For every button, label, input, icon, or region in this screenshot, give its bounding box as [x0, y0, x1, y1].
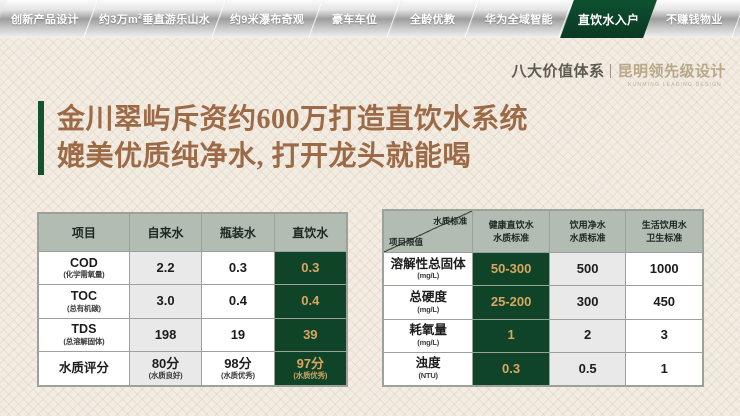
left-row-2-item-value: TDS: [71, 322, 96, 336]
left-row-2-tap-value: 198: [155, 327, 177, 342]
brand-sub-title: 昆明领先级设计: [617, 65, 726, 80]
col-header-item: 项目: [39, 214, 130, 252]
right-row-3-domestic: 1: [626, 352, 703, 385]
col-header-healthy-direct: 健康直饮水 水质标准: [473, 211, 550, 253]
left-row-3-tap-value: 80分: [152, 356, 179, 371]
table-row: 总硬度(mg/L)25-200300450: [384, 286, 703, 319]
brand-english-subtitle: KUNMING LEADING DESIGN: [511, 83, 726, 88]
table-left-head: 项目 自来水 瓶装水 直饮水: [39, 214, 347, 252]
left-row-2-direct-value: 39: [303, 327, 317, 342]
left-row-1-direct-value: 0.4: [301, 293, 319, 308]
left-row-0-tap: 2.2: [129, 252, 201, 285]
corner-label-standard: 水质标准: [433, 215, 467, 227]
right-row-1-healthy-value: 25-200: [491, 294, 531, 309]
nav-tab-2[interactable]: 约9米瀑布奇观: [213, 0, 323, 38]
col-header-tap: 自来水: [129, 214, 201, 252]
table-right-head: 水质标准 项目限值 健康直饮水 水质标准 饮用净水 水质标准 生活饮用水 卫生标…: [384, 211, 703, 253]
left-row-0-direct: 0.3: [274, 252, 346, 285]
left-row-0-item: COD(化学需氧量): [39, 252, 130, 285]
col-header-healthy-direct-l1: 健康直饮水: [489, 220, 534, 230]
nav-tab-5[interactable]: 华为全域智能: [466, 0, 573, 38]
left-row-1-tap: 3.0: [129, 285, 201, 318]
left-row-0-bottled-value: 0.3: [229, 260, 247, 275]
left-row-3-direct-value: 97分: [297, 356, 324, 371]
left-row-1-item-value: TOC: [71, 289, 97, 303]
left-row-1-item: TOC(总有机碳): [39, 285, 130, 318]
table-row: 水质评分80分(水质良好)98分(水质优秀)97分(水质优秀): [39, 351, 347, 385]
right-row-3-purified-value: 0.5: [579, 361, 597, 376]
left-row-0-bottled: 0.3: [202, 252, 274, 285]
right-row-0-item-value: 溶解性总固体: [391, 257, 466, 271]
col-header-domestic-l1: 生活饮用水: [642, 220, 687, 230]
nav-tab-label-4: 全龄优教: [410, 11, 455, 27]
brand-main-title: 八大价值体系: [511, 65, 604, 80]
left-row-3-direct: 97分(水质优秀): [274, 351, 346, 385]
right-row-2-item-sub: (mg/L): [385, 339, 471, 347]
left-row-0-tap-value: 2.2: [157, 260, 175, 275]
col-header-purified-l2: 水质标准: [570, 233, 606, 243]
left-row-3-tap: 80分(水质良好): [129, 351, 201, 385]
right-row-2-domestic-value: 3: [661, 327, 668, 342]
slide-canvas: 创新产品设计约3万m2垂直游乐山水约9米瀑布奇观豪车车位全龄优教华为全域智能直饮…: [0, 0, 740, 416]
left-row-3-bottled: 98分(水质优秀): [202, 351, 274, 385]
left-row-2-bottled-value: 19: [231, 327, 245, 342]
left-row-2-item-sub: (总溶解固体): [40, 338, 128, 346]
right-row-0-item-sub: (mg/L): [385, 272, 471, 280]
col-header-domestic-l2: 卫生标准: [646, 233, 682, 243]
col-header-healthy-direct-l2: 水质标准: [493, 233, 529, 243]
right-row-1-purified: 300: [549, 286, 626, 319]
table-left-body: COD(化学需氧量)2.20.30.3TOC(总有机碳)3.00.40.4TDS…: [39, 252, 347, 386]
right-row-2-item: 耗氧量(mg/L): [384, 319, 473, 352]
right-row-0-item: 溶解性总固体(mg/L): [384, 253, 473, 286]
nav-tab-superscript-1: 2: [138, 13, 142, 20]
right-row-3-item-value: 浊度: [416, 356, 441, 370]
table-row: TDS(总溶解固体)1981939: [39, 318, 347, 351]
right-row-1-domestic: 450: [626, 286, 703, 319]
left-row-3-bottled-value: 98分: [224, 356, 251, 371]
nav-tab-1[interactable]: 约3万m2垂直游乐山水: [85, 0, 225, 38]
right-row-1-item-value: 总硬度: [409, 290, 447, 304]
nav-tab-label-3: 豪车车位: [332, 11, 377, 27]
left-row-3-bottled-sub: (水质优秀): [203, 372, 272, 380]
right-row-2-purified: 2: [549, 319, 626, 352]
table-row: 溶解性总固体(mg/L)50-3005001000: [384, 253, 703, 286]
left-row-1-bottled-value: 0.4: [229, 293, 247, 308]
right-row-0-domestic-value: 1000: [650, 261, 679, 276]
corner-label-limit: 项目限值: [389, 236, 423, 248]
top-navigation-bar: 创新产品设计约3万m2垂直游乐山水约9米瀑布奇观豪车车位全龄优教华为全域智能直饮…: [0, 0, 740, 38]
table-left-header-row: 项目 自来水 瓶装水 直饮水: [39, 214, 347, 252]
right-row-2-domestic: 3: [626, 319, 703, 352]
left-row-3-item: 水质评分: [39, 351, 130, 385]
right-row-3-domestic-value: 1: [661, 361, 668, 376]
water-comparison-grid: 项目 自来水 瓶装水 直饮水 COD(化学需氧量)2.20.30.3TOC(总有…: [38, 213, 347, 386]
right-row-3-purified: 0.5: [549, 352, 626, 385]
brand-divider: [610, 64, 611, 78]
right-row-1-purified-value: 300: [577, 294, 599, 309]
table-right-body: 溶解性总固体(mg/L)50-3005001000总硬度(mg/L)25-200…: [384, 253, 703, 386]
col-header-purified-l1: 饮用净水: [570, 220, 606, 230]
left-row-1-bottled: 0.4: [202, 285, 274, 318]
right-row-3-item: 浊度(NTU): [384, 352, 473, 385]
nav-tab-0[interactable]: 创新产品设计: [0, 0, 98, 38]
right-row-3-item-sub: (NTU): [385, 372, 471, 380]
right-row-2-purified-value: 2: [584, 327, 591, 342]
left-row-0-direct-value: 0.3: [301, 260, 319, 275]
left-row-3-item-value: 水质评分: [59, 361, 109, 375]
right-row-2-healthy: 1: [473, 319, 550, 352]
right-row-1-item: 总硬度(mg/L): [384, 286, 473, 319]
corner-split-header: 水质标准 项目限值: [384, 211, 473, 253]
left-row-2-tap: 198: [129, 318, 201, 351]
left-row-0-item-sub: (化学需氧量): [40, 271, 128, 279]
branding-row: 八大价值体系 昆明领先级设计: [511, 62, 726, 80]
right-row-3-healthy: 0.3: [473, 352, 550, 385]
left-row-3-direct-sub: (水质优秀): [276, 372, 345, 380]
right-row-0-domestic: 1000: [626, 253, 703, 286]
table-row: 浊度(NTU)0.30.51: [384, 352, 703, 385]
col-header-purified: 饮用净水 水质标准: [549, 211, 626, 253]
left-row-2-item: TDS(总溶解固体): [39, 318, 130, 351]
nav-tab-4[interactable]: 全龄优教: [388, 0, 479, 38]
table-row: 耗氧量(mg/L)123: [384, 319, 703, 352]
right-row-2-healthy-value: 1: [507, 327, 514, 342]
left-row-1-tap-value: 3.0: [157, 293, 175, 308]
table-row: TOC(总有机碳)3.00.40.4: [39, 285, 347, 318]
right-row-1-item-sub: (mg/L): [385, 306, 471, 314]
right-row-0-healthy: 50-300: [473, 253, 550, 286]
right-row-3-healthy-value: 0.3: [502, 361, 520, 376]
water-standards-table: 水质标准 项目限值 健康直饮水 水质标准 饮用净水 水质标准 生活饮用水 卫生标…: [382, 209, 704, 387]
right-row-1-domestic-value: 450: [653, 294, 675, 309]
branding-block: 八大价值体系 昆明领先级设计 KUNMING LEADING DESIGN: [511, 62, 726, 88]
nav-tab-label-1: 约3万m2垂直游乐山水: [99, 11, 210, 27]
left-row-3-tap-sub: (水质良好): [131, 372, 200, 380]
water-comparison-table: 项目 自来水 瓶装水 直饮水 COD(化学需氧量)2.20.30.3TOC(总有…: [37, 212, 348, 387]
col-header-bottled: 瓶装水: [202, 214, 274, 252]
table-row: COD(化学需氧量)2.20.30.3: [39, 252, 347, 285]
headline-line-1: 金川翠屿斥资约600万打造直饮水系统: [57, 101, 528, 138]
water-standards-grid: 水质标准 项目限值 健康直饮水 水质标准 饮用净水 水质标准 生活饮用水 卫生标…: [383, 210, 703, 386]
nav-tab-label-6: 直饮水入户: [578, 11, 640, 28]
right-row-0-purified-value: 500: [577, 261, 599, 276]
left-row-2-bottled: 19: [202, 318, 274, 351]
nav-tab-3[interactable]: 豪车车位: [310, 0, 401, 38]
left-row-2-direct: 39: [274, 318, 346, 351]
right-row-0-purified: 500: [549, 253, 626, 286]
right-row-2-item-value: 耗氧量: [409, 323, 447, 337]
right-row-1-healthy: 25-200: [473, 286, 550, 319]
col-header-direct: 直饮水: [274, 214, 346, 252]
headline-text: 金川翠屿斥资约600万打造直饮水系统 媲美优质纯净水, 打开龙头就能喝: [57, 101, 528, 175]
right-row-0-healthy-value: 50-300: [491, 261, 531, 276]
nav-tab-6[interactable]: 直饮水入户: [560, 0, 657, 38]
nav-tab-label-0: 创新产品设计: [11, 11, 79, 27]
nav-tab-label-2: 约9米瀑布奇观: [230, 11, 304, 27]
nav-tab-label-5: 华为全域智能: [485, 11, 553, 27]
nav-tab-7[interactable]: 不赚钱物业: [644, 0, 740, 38]
table-right-header-row: 水质标准 项目限值 健康直饮水 水质标准 饮用净水 水质标准 生活饮用水 卫生标…: [384, 211, 703, 253]
headline-accent-bar: [38, 101, 44, 175]
col-header-domestic: 生活饮用水 卫生标准: [626, 211, 703, 253]
nav-tab-label-7: 不赚钱物业: [666, 11, 723, 27]
headline-line-2: 媲美优质纯净水, 打开龙头就能喝: [57, 138, 528, 175]
left-row-1-direct: 0.4: [274, 285, 346, 318]
headline-block: 金川翠屿斥资约600万打造直饮水系统 媲美优质纯净水, 打开龙头就能喝: [38, 101, 528, 175]
left-row-1-item-sub: (总有机碳): [40, 305, 128, 313]
left-row-0-item-value: COD: [70, 256, 98, 270]
